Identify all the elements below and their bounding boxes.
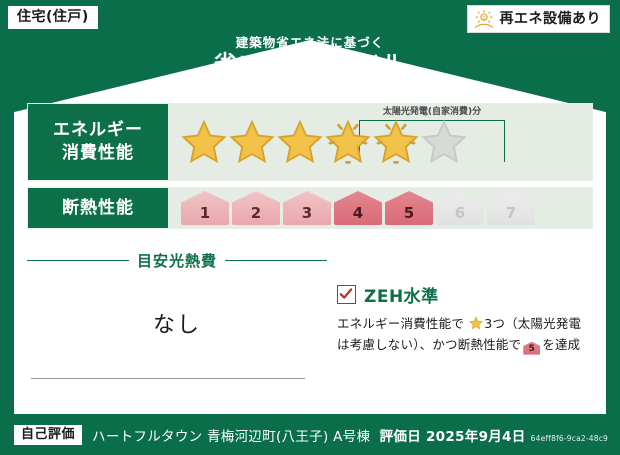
zeh-checkbox[interactable] — [337, 285, 356, 304]
evaluation-date: 評価日 2025年9月4日 — [380, 429, 526, 445]
self-evaluation-tag: 自己評価 — [14, 425, 82, 445]
insulation-badge-number: 7 — [506, 204, 516, 222]
heading-rule-right — [225, 260, 327, 261]
performance-rows: エネルギー 消費性能 太陽光発電(自家消費)分 断熱性能 1234567 — [27, 103, 593, 229]
heading-rule-left — [27, 260, 129, 261]
utility-cost-value: なし — [27, 307, 327, 339]
utility-cost-section: 目安光熱費 なし — [27, 250, 327, 410]
insulation-badge-number: 5 — [404, 204, 414, 222]
insulation-badge-5: 5 — [385, 191, 433, 225]
zeh-heading: ZEH水準 — [337, 282, 593, 307]
insulation-badge-number: 6 — [455, 204, 465, 222]
check-icon — [339, 287, 353, 301]
house-type-tag: 住宅(住戸) — [8, 6, 98, 29]
title-subtitle: 建築物省エネ法に基づく — [0, 36, 620, 50]
insulation-badge-7: 7 — [487, 191, 535, 225]
zeh-desc-part3: を達成 — [542, 337, 580, 352]
insulation-badge-number: 1 — [200, 204, 210, 222]
renewable-energy-label: 再エネ設備あり — [500, 12, 602, 26]
energy-consumption-value: 太陽光発電(自家消費)分 — [169, 103, 593, 181]
label-footer: 自己評価 ハートフルタウン 青梅河辺町(八王子) A号棟 評価日 2025年9月… — [0, 414, 620, 455]
utility-cost-heading: 目安光熱費 — [27, 250, 327, 271]
energy-performance-label: 住宅(住戸) D 再エネ設備あり 建築物省エネ法に基づく — [0, 0, 620, 455]
utility-cost-title: 目安光熱費 — [137, 250, 217, 271]
star-1-filled — [181, 119, 227, 165]
zeh-desc-part2: は考慮しない）、かつ断熱性能で — [337, 337, 521, 352]
insulation-grade-scale: 1234567 — [169, 191, 535, 225]
zeh-description: エネルギー消費性能で 3つ（太陽光発電 は考慮しない）、かつ断熱性能で 5 を達… — [337, 314, 593, 355]
star-2-filled — [229, 119, 275, 165]
energy-label-line2: 消費性能 — [62, 142, 134, 165]
star-6-empty — [421, 119, 467, 165]
zeh-title: ZEH水準 — [364, 282, 439, 307]
insulation-badge-6: 6 — [436, 191, 484, 225]
inline-star-icon — [464, 316, 484, 331]
svg-text:D: D — [482, 16, 485, 21]
insulation-label: 断熱性能 — [27, 187, 169, 229]
insulation-badge-number: 4 — [353, 204, 363, 222]
renewable-energy-badge: D 再エネ設備あり — [467, 5, 611, 33]
solar-annotation-text: 太陽光発電(自家消費)分 — [357, 108, 507, 118]
star-3-filled — [277, 119, 323, 165]
insulation-badge-1: 1 — [181, 191, 229, 225]
zeh-desc-stars: 3つ（太陽光発電 — [484, 316, 581, 331]
lower-section: 目安光熱費 なし ZEH水準 エネルギー消費性能で 3つ（太陽光発電 — [27, 250, 593, 410]
energy-consumption-label: エネルギー 消費性能 — [27, 103, 169, 181]
star-5-filled — [373, 119, 419, 165]
label-title: 建築物省エネ法に基づく 省エネ性能ラベル — [0, 36, 620, 77]
zeh-desc-part1: エネルギー消費性能で — [337, 316, 464, 331]
insulation-row: 断熱性能 1234567 — [27, 187, 593, 229]
insulation-badge-4: 4 — [334, 191, 382, 225]
evaluation-code: 64eff8f6-9ca2-48c9 — [531, 434, 608, 443]
zeh-section: ZEH水準 エネルギー消費性能で 3つ（太陽光発電 は考慮しない）、かつ断熱性能… — [327, 250, 593, 410]
sun-icon: D — [473, 9, 495, 29]
property-name: ハートフルタウン 青梅河辺町(八王子) A号棟 — [92, 425, 370, 445]
insulation-badge-number: 2 — [251, 204, 261, 222]
inline-grade-number: 5 — [529, 344, 535, 354]
insulation-badge-2: 2 — [232, 191, 280, 225]
evaluation-date-block: 評価日 2025年9月4日 64eff8f6-9ca2-48c9 — [380, 425, 608, 445]
energy-consumption-row: エネルギー 消費性能 太陽光発電(自家消費)分 — [27, 103, 593, 181]
insulation-badge-3: 3 — [283, 191, 331, 225]
utility-cost-divider — [31, 378, 305, 379]
title-main: 省エネ性能ラベル — [0, 53, 620, 77]
insulation-badge-number: 3 — [302, 204, 312, 222]
energy-label-line1: エネルギー — [53, 119, 143, 142]
star-4-filled — [325, 119, 371, 165]
inline-grade-badge: 5 — [523, 342, 540, 355]
insulation-value: 1234567 — [169, 187, 593, 229]
energy-star-rating — [169, 119, 467, 165]
